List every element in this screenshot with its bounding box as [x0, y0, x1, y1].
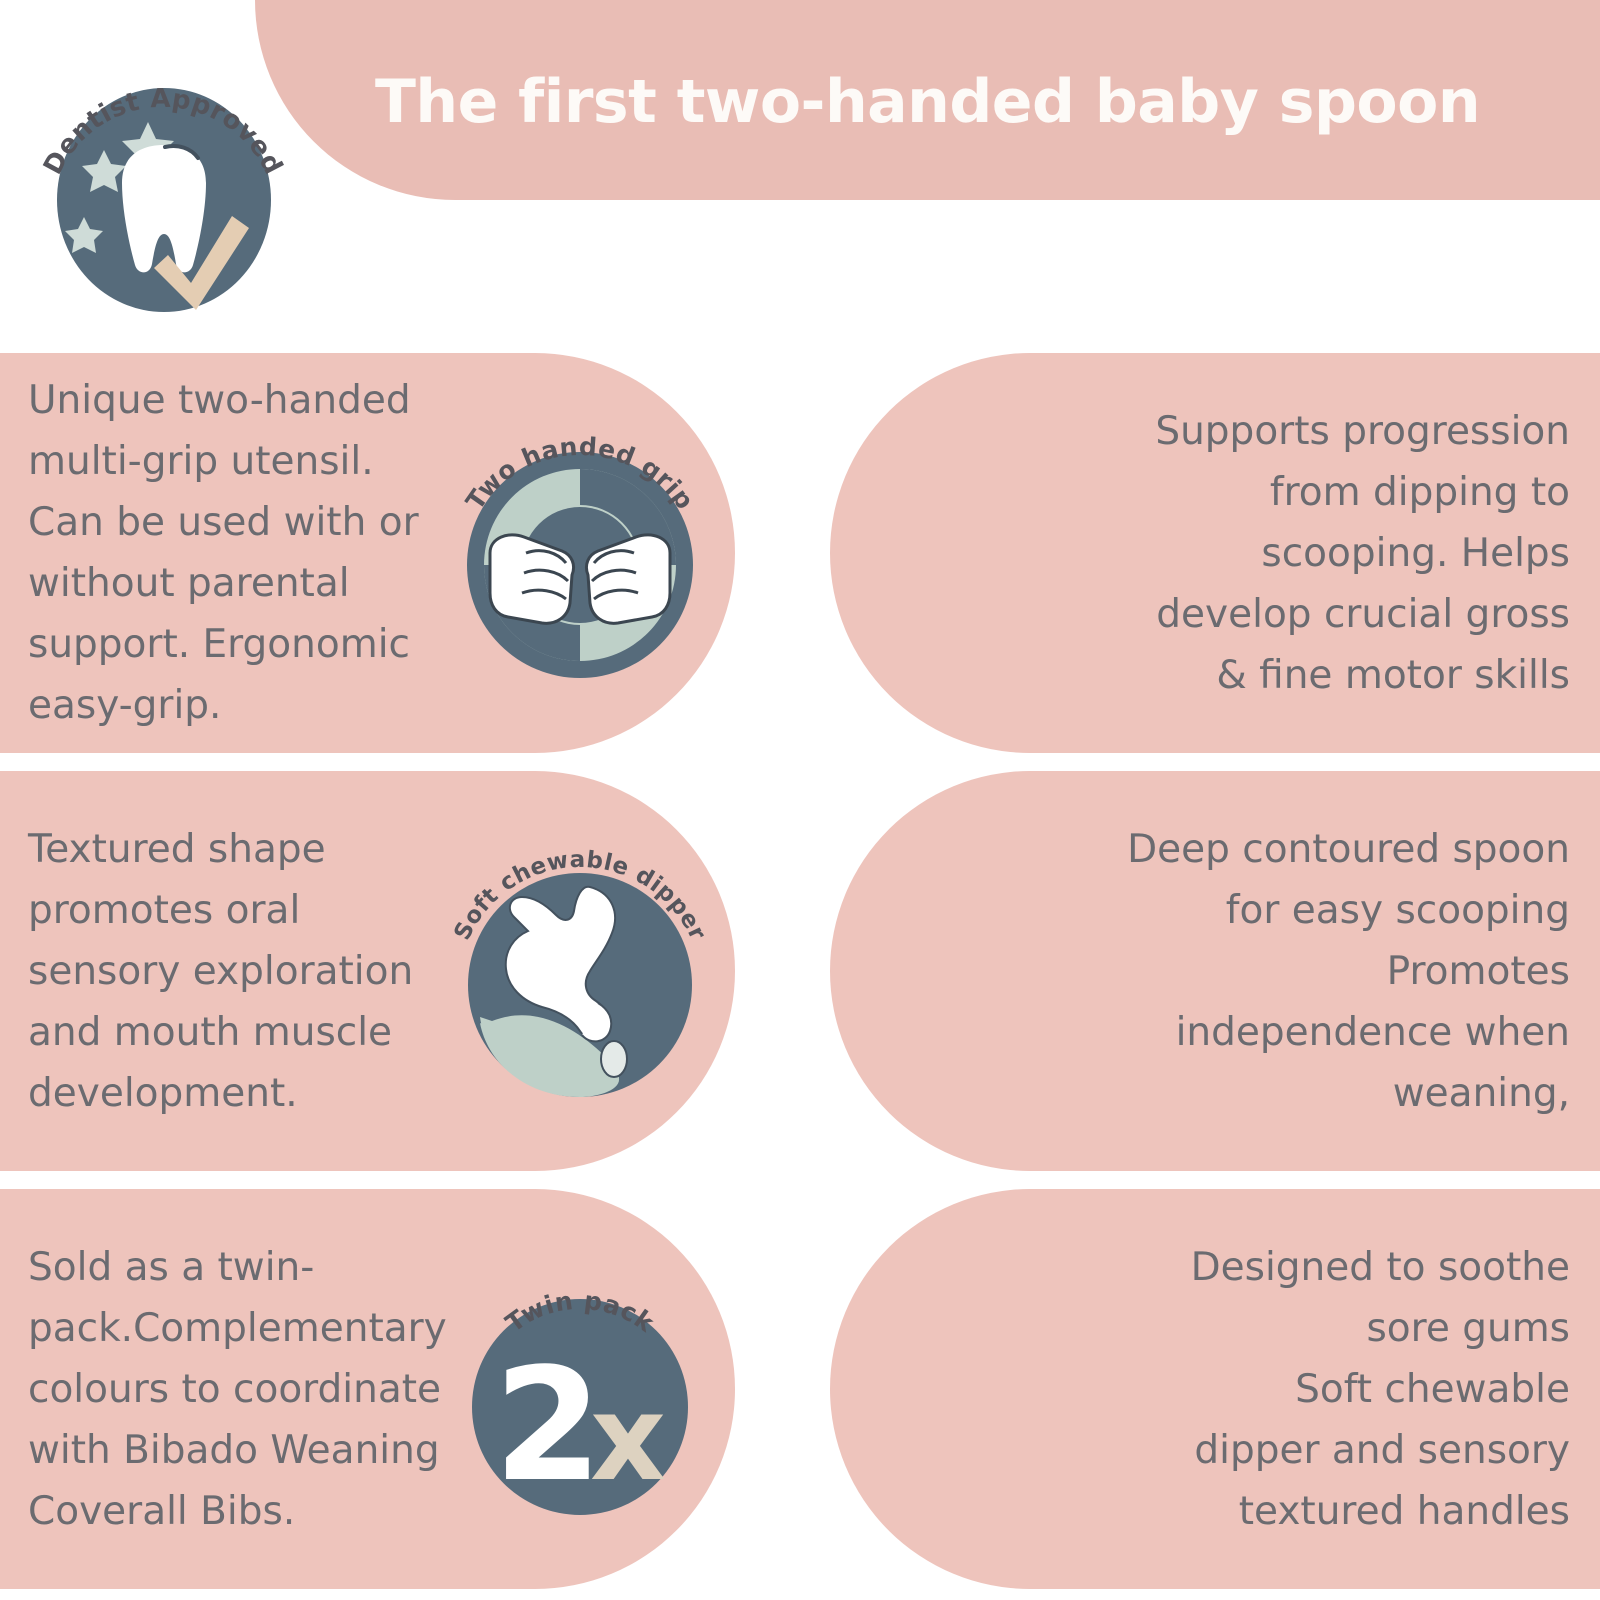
dentist-approved-logo: Dentist Approved [28, 52, 294, 318]
copy-line: from dipping to [1155, 462, 1570, 523]
badge-two-handed-grip: Two handed grip [430, 403, 730, 703]
feature-text-orthodontically-safe: Designed to soothe sore gums Soft chewab… [1191, 1237, 1570, 1542]
copy-line: independence when [1127, 1002, 1570, 1063]
badge-soft-chewable-dipper: Soft chewable dipper [430, 821, 730, 1121]
copy-line: easy-grip. [28, 675, 419, 736]
copy-line: weaning, [1127, 1063, 1570, 1124]
feature-row-2: Textured shape promotes oral sensory exp… [0, 771, 1600, 1171]
feature-row-1: Unique two-handed multi-grip utensil. Ca… [0, 353, 1600, 753]
copy-line: and mouth muscle [28, 1002, 413, 1063]
two-x-multiplier-icon: 2 x Twin pack [430, 1239, 730, 1539]
feature-card-orthodontically-safe: Designed to soothe sore gums Soft chewab… [830, 1189, 1600, 1589]
copy-line: without parental [28, 553, 419, 614]
copy-line: for easy scooping [1127, 880, 1570, 941]
copy-line: Coverall Bibs. [28, 1481, 447, 1542]
copy-line: promotes oral [28, 880, 413, 941]
copy-line: Textured shape [28, 819, 413, 880]
copy-line: sore gums [1191, 1298, 1570, 1359]
copy-line: colours to coordinate [28, 1359, 447, 1420]
feature-text-soft-chewable-dipper: Textured shape promotes oral sensory exp… [28, 819, 413, 1124]
copy-line: Can be used with or [28, 492, 419, 553]
copy-line: Designed to soothe [1191, 1237, 1570, 1298]
feature-text-twin-pack: Sold as a twin- pack.Complementary colou… [28, 1237, 447, 1542]
copy-line: develop crucial gross [1155, 584, 1570, 645]
twin-pack-multiplier: x [590, 1369, 666, 1507]
twin-pack-number: 2 [494, 1334, 603, 1516]
copy-line: multi-grip utensil. [28, 431, 419, 492]
copy-line: Unique two-handed [28, 370, 419, 431]
copy-line: with Bibado Weaning [28, 1420, 447, 1481]
dipper-with-droplet-icon: Soft chewable dipper [430, 821, 730, 1121]
feature-card-supports-development: Supports progression from dipping to sco… [830, 353, 1600, 753]
feature-text-deep-contoured-spoon: Deep contoured spoon for easy scooping P… [1127, 819, 1570, 1124]
copy-line: pack.Complementary [28, 1298, 447, 1359]
header-banner: The first two-handed baby spoon [255, 0, 1600, 200]
feature-text-two-handed-grip: Unique two-handed multi-grip utensil. Ca… [28, 370, 419, 736]
copy-line: development. [28, 1063, 413, 1124]
copy-line: textured handles [1191, 1481, 1570, 1542]
copy-line: Sold as a twin- [28, 1237, 447, 1298]
copy-line: sensory exploration [28, 941, 413, 1002]
copy-line: dipper and sensory [1191, 1420, 1570, 1481]
copy-line: Deep contoured spoon [1127, 819, 1570, 880]
copy-line: Promotes [1127, 941, 1570, 1002]
copy-line: support. Ergonomic [28, 614, 419, 675]
badge-twin-pack: 2 x Twin pack [430, 1239, 730, 1539]
feature-text-supports-development: Supports progression from dipping to sco… [1155, 401, 1570, 706]
copy-line: scooping. Helps [1155, 523, 1570, 584]
dentist-approved-icon: Dentist Approved [28, 52, 294, 318]
feature-card-deep-contoured-spoon: Deep contoured spoon for easy scooping P… [830, 771, 1600, 1171]
copy-line: & fine motor skills [1155, 645, 1570, 706]
page-title: The first two-handed baby spoon [375, 67, 1480, 137]
feature-row-3: Sold as a twin- pack.Complementary colou… [0, 1189, 1600, 1589]
two-fists-grip-icon: Two handed grip [430, 403, 730, 703]
copy-line: Supports progression [1155, 401, 1570, 462]
copy-line: Soft chewable [1191, 1359, 1570, 1420]
